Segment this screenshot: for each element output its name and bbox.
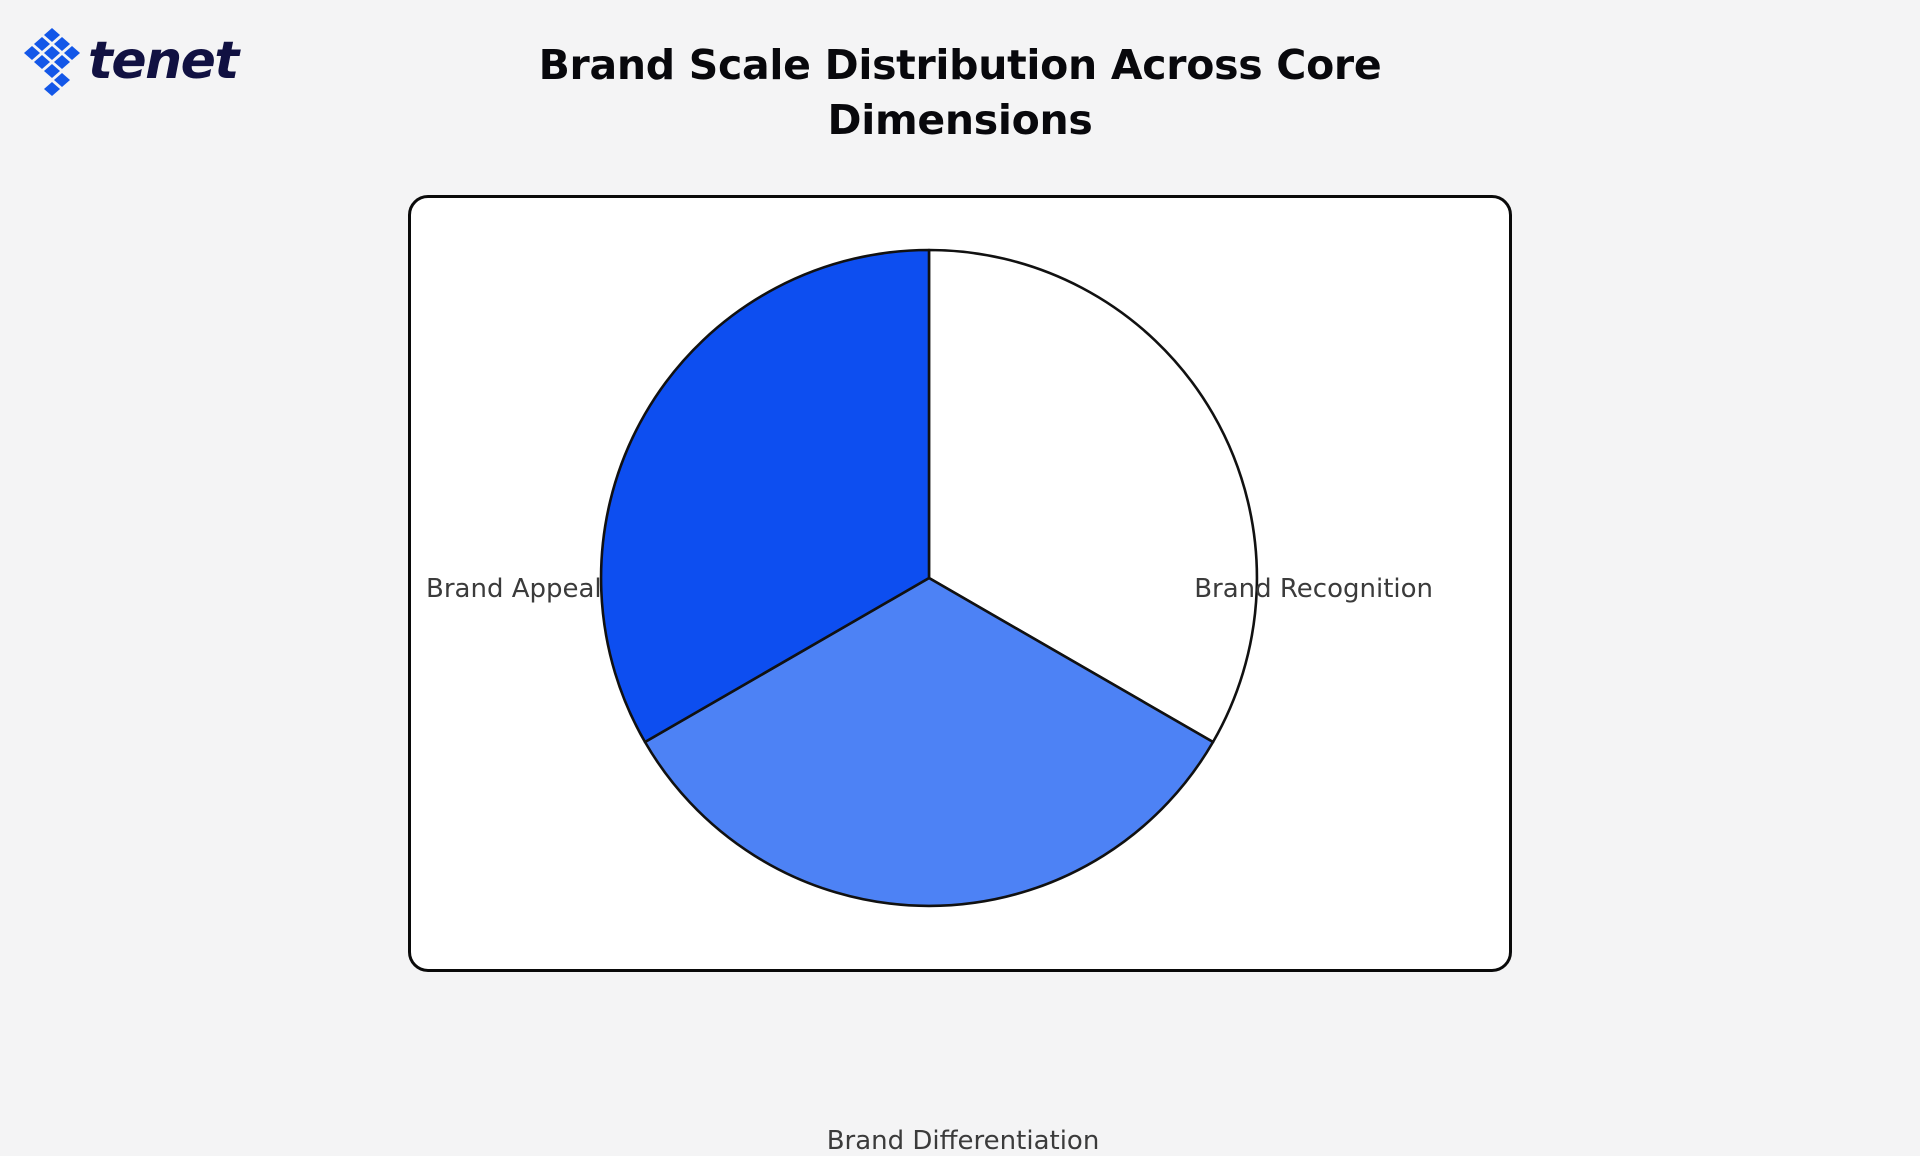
page-title-line-2: Dimensions bbox=[827, 96, 1092, 144]
brand-logo: tenet bbox=[22, 26, 238, 96]
chart-card: Brand Appeal Brand Recognition Brand Dif… bbox=[408, 195, 1512, 972]
tenet-diamond-grid-icon bbox=[22, 26, 84, 96]
pie-chart: Brand Appeal Brand Recognition Brand Dif… bbox=[411, 198, 1515, 975]
pie-label-brand-appeal: Brand Appeal bbox=[426, 576, 602, 602]
page-title-line-1: Brand Scale Distribution Across Core bbox=[539, 41, 1382, 89]
pie-label-brand-differentiation: Brand Differentiation bbox=[827, 1128, 1100, 1154]
brand-logo-wordmark: tenet bbox=[88, 35, 238, 87]
pie-label-brand-recognition: Brand Recognition bbox=[1194, 576, 1433, 602]
page-title: Brand Scale Distribution Across Core Dim… bbox=[410, 38, 1510, 149]
